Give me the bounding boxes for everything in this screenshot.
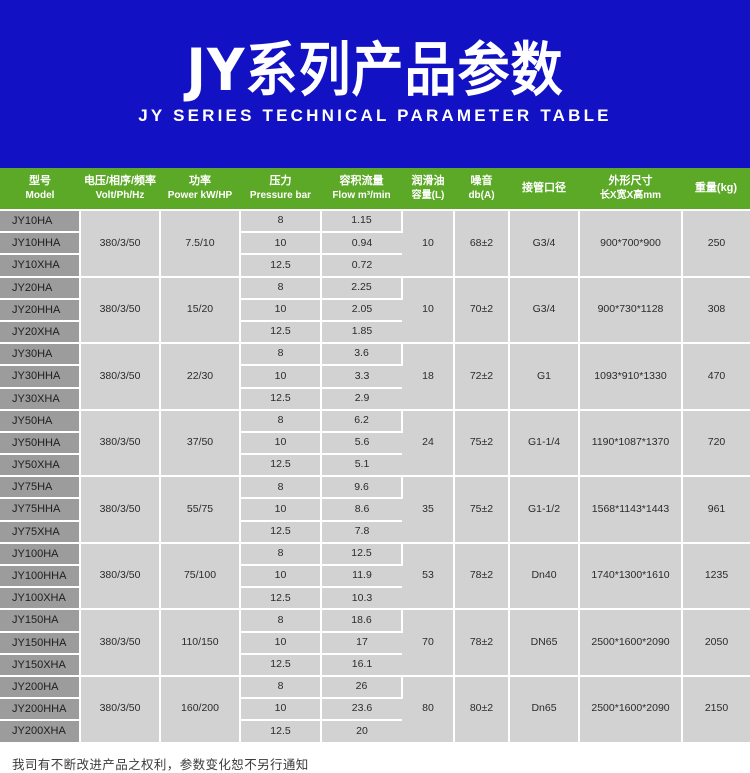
- cell-model: JY75HA: [0, 476, 80, 498]
- cell-port-size: G1-1/2: [509, 476, 579, 543]
- cell-flow: 11.9: [321, 565, 402, 587]
- cell-noise: 78±2: [454, 543, 509, 610]
- cell-noise: 78±2: [454, 609, 509, 676]
- col-header-oil-en: 容量(L): [403, 189, 453, 203]
- cell-dimension: 900*700*900: [579, 210, 682, 277]
- col-header-power: 功率 Power kW/HP: [160, 168, 240, 210]
- cell-voltage: 380/3/50: [80, 609, 160, 676]
- cell-dimension: 1093*910*1330: [579, 343, 682, 410]
- cell-port-size: G3/4: [509, 210, 579, 277]
- cell-flow: 18.6: [321, 609, 402, 631]
- cell-oil-capacity: 10: [402, 210, 454, 277]
- cell-model: JY10HA: [0, 210, 80, 232]
- cell-power: 55/75: [160, 476, 240, 543]
- cell-power: 15/20: [160, 277, 240, 344]
- cell-pressure: 8: [240, 277, 321, 299]
- col-header-model-en: Model: [1, 189, 79, 203]
- banner-title: JY系列产品参数: [186, 41, 563, 99]
- cell-voltage: 380/3/50: [80, 210, 160, 277]
- col-header-flow-cn: 容积流量: [322, 174, 401, 189]
- cell-oil-capacity: 24: [402, 410, 454, 477]
- col-header-port: 接管口径: [509, 168, 579, 210]
- cell-model: JY200HA: [0, 676, 80, 698]
- cell-pressure: 10: [240, 632, 321, 654]
- parameter-table: 型号 Model 电压/相序/频率 Volt/Ph/Hz 功率 Power kW…: [0, 168, 750, 744]
- cell-flow: 7.8: [321, 521, 402, 543]
- cell-power: 110/150: [160, 609, 240, 676]
- cell-flow: 12.5: [321, 543, 402, 565]
- cell-flow: 26: [321, 676, 402, 698]
- cell-dimension: 2500*1600*2090: [579, 609, 682, 676]
- col-header-voltage-en: Volt/Ph/Hz: [81, 189, 159, 203]
- footer-disclaimer: 我司有不断改进产品之权利，参数变化恕不另行通知: [0, 744, 750, 773]
- cell-voltage: 380/3/50: [80, 277, 160, 344]
- cell-power: 160/200: [160, 676, 240, 743]
- cell-pressure: 8: [240, 676, 321, 698]
- col-header-model-cn: 型号: [1, 174, 79, 189]
- table-row: JY30HA380/3/5022/3083.61872±2G11093*910*…: [0, 343, 750, 365]
- cell-model: JY200HHA: [0, 698, 80, 720]
- table-row: JY50HA380/3/5037/5086.22475±2G1-1/41190*…: [0, 410, 750, 432]
- cell-noise: 68±2: [454, 210, 509, 277]
- cell-pressure: 12.5: [240, 254, 321, 276]
- col-header-weight: 重量(kg): [682, 168, 750, 210]
- cell-model: JY100XHA: [0, 587, 80, 609]
- col-header-dimension-cn: 外形尺寸: [580, 174, 681, 189]
- cell-flow: 2.25: [321, 277, 402, 299]
- cell-model: JY100HHA: [0, 565, 80, 587]
- cell-power: 22/30: [160, 343, 240, 410]
- cell-pressure: 12.5: [240, 521, 321, 543]
- cell-noise: 75±2: [454, 410, 509, 477]
- cell-pressure: 10: [240, 299, 321, 321]
- cell-pressure: 10: [240, 232, 321, 254]
- cell-pressure: 12.5: [240, 654, 321, 676]
- cell-model: JY20HHA: [0, 299, 80, 321]
- cell-dimension: 1740*1300*1610: [579, 543, 682, 610]
- cell-model: JY20XHA: [0, 321, 80, 343]
- cell-flow: 10.3: [321, 587, 402, 609]
- page-banner: JY系列产品参数 JY SERIES TECHNICAL PARAMETER T…: [0, 0, 750, 168]
- cell-pressure: 8: [240, 476, 321, 498]
- cell-model: JY30HHA: [0, 365, 80, 387]
- cell-pressure: 12.5: [240, 454, 321, 476]
- cell-voltage: 380/3/50: [80, 410, 160, 477]
- cell-weight: 2050: [682, 609, 750, 676]
- table-header-row: 型号 Model 电压/相序/频率 Volt/Ph/Hz 功率 Power kW…: [0, 168, 750, 210]
- cell-pressure: 12.5: [240, 720, 321, 742]
- cell-flow: 9.6: [321, 476, 402, 498]
- col-header-noise-cn: 噪音: [455, 174, 508, 189]
- cell-power: 75/100: [160, 543, 240, 610]
- cell-voltage: 380/3/50: [80, 676, 160, 743]
- col-header-model: 型号 Model: [0, 168, 80, 210]
- col-header-pressure-en: Pressure bar: [241, 189, 320, 203]
- cell-port-size: G1: [509, 343, 579, 410]
- cell-model: JY75XHA: [0, 521, 80, 543]
- cell-oil-capacity: 18: [402, 343, 454, 410]
- cell-flow: 16.1: [321, 654, 402, 676]
- cell-model: JY10HHA: [0, 232, 80, 254]
- cell-pressure: 8: [240, 543, 321, 565]
- cell-model: JY150HA: [0, 609, 80, 631]
- cell-flow: 0.72: [321, 254, 402, 276]
- cell-pressure: 12.5: [240, 388, 321, 410]
- col-header-flow-en: Flow m³/min: [322, 189, 401, 203]
- cell-model: JY30HA: [0, 343, 80, 365]
- cell-oil-capacity: 70: [402, 609, 454, 676]
- cell-weight: 720: [682, 410, 750, 477]
- col-header-noise-en: db(A): [455, 189, 508, 203]
- cell-noise: 80±2: [454, 676, 509, 743]
- cell-voltage: 380/3/50: [80, 543, 160, 610]
- cell-pressure: 10: [240, 565, 321, 587]
- cell-pressure: 10: [240, 698, 321, 720]
- cell-flow: 8.6: [321, 498, 402, 520]
- cell-model: JY100HA: [0, 543, 80, 565]
- cell-model: JY50HHA: [0, 432, 80, 454]
- col-header-power-en: Power kW/HP: [161, 189, 239, 203]
- cell-pressure: 8: [240, 343, 321, 365]
- cell-dimension: 1568*1143*1443: [579, 476, 682, 543]
- col-header-oil: 润滑油 容量(L): [402, 168, 454, 210]
- cell-power: 7.5/10: [160, 210, 240, 277]
- col-header-flow: 容积流量 Flow m³/min: [321, 168, 402, 210]
- cell-pressure: 8: [240, 609, 321, 631]
- col-header-oil-cn: 润滑油: [403, 174, 453, 189]
- cell-model: JY30XHA: [0, 388, 80, 410]
- cell-port-size: Dn40: [509, 543, 579, 610]
- col-header-voltage-cn: 电压/相序/频率: [81, 174, 159, 189]
- cell-port-size: G1-1/4: [509, 410, 579, 477]
- col-header-pressure: 压力 Pressure bar: [240, 168, 321, 210]
- cell-flow: 0.94: [321, 232, 402, 254]
- parameter-table-wrapper: 型号 Model 电压/相序/频率 Volt/Ph/Hz 功率 Power kW…: [0, 168, 750, 744]
- cell-weight: 308: [682, 277, 750, 344]
- table-row: JY20HA380/3/5015/2082.251070±2G3/4900*73…: [0, 277, 750, 299]
- cell-dimension: 2500*1600*2090: [579, 676, 682, 743]
- cell-flow: 1.15: [321, 210, 402, 232]
- cell-oil-capacity: 10: [402, 277, 454, 344]
- cell-flow: 23.6: [321, 698, 402, 720]
- cell-pressure: 10: [240, 365, 321, 387]
- cell-weight: 1235: [682, 543, 750, 610]
- table-row: JY100HA380/3/5075/100812.55378±2Dn401740…: [0, 543, 750, 565]
- table-row: JY200HA380/3/50160/2008268080±2Dn652500*…: [0, 676, 750, 698]
- cell-weight: 961: [682, 476, 750, 543]
- cell-pressure: 12.5: [240, 321, 321, 343]
- cell-flow: 1.85: [321, 321, 402, 343]
- cell-flow: 2.9: [321, 388, 402, 410]
- cell-oil-capacity: 53: [402, 543, 454, 610]
- cell-oil-capacity: 80: [402, 676, 454, 743]
- cell-model: JY75HHA: [0, 498, 80, 520]
- cell-model: JY150HHA: [0, 632, 80, 654]
- cell-flow: 6.2: [321, 410, 402, 432]
- col-header-noise: 噪音 db(A): [454, 168, 509, 210]
- cell-pressure: 12.5: [240, 587, 321, 609]
- cell-model: JY50XHA: [0, 454, 80, 476]
- cell-flow: 20: [321, 720, 402, 742]
- table-body: JY10HA380/3/507.5/1081.151068±2G3/4900*7…: [0, 210, 750, 743]
- cell-noise: 72±2: [454, 343, 509, 410]
- cell-flow: 2.05: [321, 299, 402, 321]
- cell-model: JY10XHA: [0, 254, 80, 276]
- cell-oil-capacity: 35: [402, 476, 454, 543]
- table-row: JY75HA380/3/5055/7589.63575±2G1-1/21568*…: [0, 476, 750, 498]
- cell-pressure: 10: [240, 432, 321, 454]
- cell-flow: 3.6: [321, 343, 402, 365]
- cell-model: JY50HA: [0, 410, 80, 432]
- cell-dimension: 900*730*1128: [579, 277, 682, 344]
- col-header-voltage: 电压/相序/频率 Volt/Ph/Hz: [80, 168, 160, 210]
- col-header-dimension: 外形尺寸 长X宽X高mm: [579, 168, 682, 210]
- cell-weight: 250: [682, 210, 750, 277]
- cell-port-size: DN65: [509, 609, 579, 676]
- col-header-dimension-en: 长X宽X高mm: [580, 189, 681, 203]
- table-row: JY10HA380/3/507.5/1081.151068±2G3/4900*7…: [0, 210, 750, 232]
- cell-voltage: 380/3/50: [80, 343, 160, 410]
- cell-dimension: 1190*1087*1370: [579, 410, 682, 477]
- col-header-weight-cn: 重量(kg): [683, 181, 749, 196]
- cell-pressure: 8: [240, 410, 321, 432]
- cell-flow: 5.1: [321, 454, 402, 476]
- cell-weight: 470: [682, 343, 750, 410]
- cell-port-size: Dn65: [509, 676, 579, 743]
- col-header-pressure-cn: 压力: [241, 174, 320, 189]
- banner-subtitle: JY SERIES TECHNICAL PARAMETER TABLE: [138, 107, 611, 124]
- cell-noise: 70±2: [454, 277, 509, 344]
- cell-model: JY150XHA: [0, 654, 80, 676]
- cell-flow: 3.3: [321, 365, 402, 387]
- cell-power: 37/50: [160, 410, 240, 477]
- cell-noise: 75±2: [454, 476, 509, 543]
- cell-flow: 17: [321, 632, 402, 654]
- col-header-port-cn: 接管口径: [510, 181, 578, 196]
- cell-port-size: G3/4: [509, 277, 579, 344]
- col-header-power-cn: 功率: [161, 174, 239, 189]
- cell-model: JY200XHA: [0, 720, 80, 742]
- cell-voltage: 380/3/50: [80, 476, 160, 543]
- cell-flow: 5.6: [321, 432, 402, 454]
- cell-model: JY20HA: [0, 277, 80, 299]
- cell-weight: 2150: [682, 676, 750, 743]
- cell-pressure: 10: [240, 498, 321, 520]
- table-row: JY150HA380/3/50110/150818.67078±2DN65250…: [0, 609, 750, 631]
- table-head: 型号 Model 电压/相序/频率 Volt/Ph/Hz 功率 Power kW…: [0, 168, 750, 210]
- cell-pressure: 8: [240, 210, 321, 232]
